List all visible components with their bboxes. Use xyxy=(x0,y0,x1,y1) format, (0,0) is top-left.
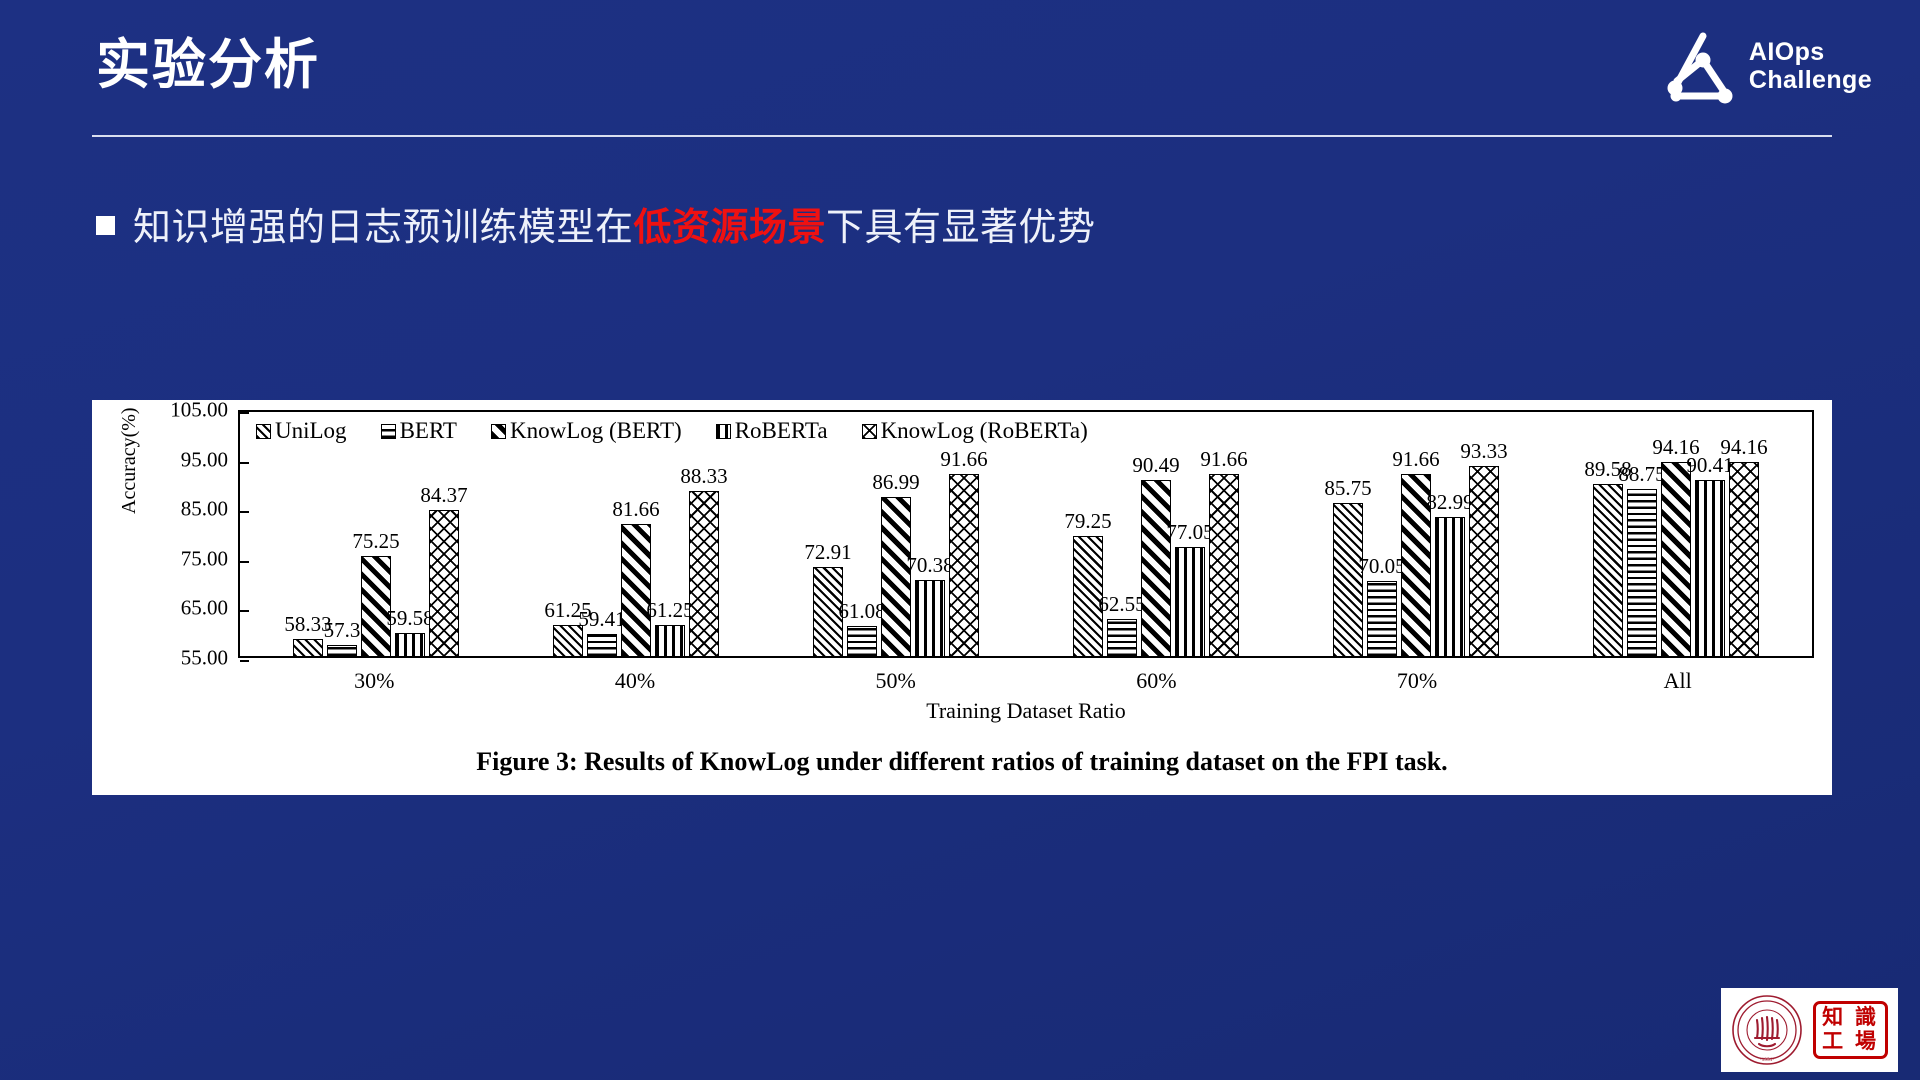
bar[interactable] xyxy=(1333,503,1363,656)
bar-value-label: 75.25 xyxy=(352,529,399,554)
bar[interactable] xyxy=(429,510,459,656)
bar-group: 79.2562.5590.4977.0591.66 xyxy=(1026,412,1286,656)
brand-line-1: AIOps xyxy=(1749,38,1872,66)
brand-wordmark: AIOps Challenge xyxy=(1749,38,1872,94)
bar[interactable] xyxy=(1627,489,1657,656)
x-axis-ticks: 30%40%50%60%70%All xyxy=(238,668,1814,694)
bar-value-label: 70.05 xyxy=(1358,554,1405,579)
legend-label: KnowLog (BERT) xyxy=(510,418,682,444)
bar-wrapper: 93.33 xyxy=(1469,412,1499,656)
x-axis-tick-label: 60% xyxy=(1026,668,1287,694)
bar-value-label: 81.66 xyxy=(612,497,659,522)
bullet-row: 知识增强的日志预训练模型在低资源场景下具有显著优势 xyxy=(96,196,1096,251)
page-title: 实验分析 xyxy=(96,36,320,95)
bar-value-label: 88.75 xyxy=(1618,462,1665,487)
bar-wrapper: 89.58 xyxy=(1593,412,1623,656)
y-axis-tick-label: 75.00 xyxy=(181,546,228,571)
bar-value-label: 77.05 xyxy=(1166,520,1213,545)
bar-wrapper: 79.25 xyxy=(1073,412,1103,656)
bar[interactable] xyxy=(949,474,979,656)
y-axis-tickmark xyxy=(240,610,249,612)
donghua-university-seal-icon: ·1951· xyxy=(1731,994,1803,1066)
legend-item[interactable]: UniLog xyxy=(256,418,347,444)
lab-logo-line-1: 知 識 xyxy=(1822,1006,1879,1030)
legend-item[interactable]: RoBERTa xyxy=(716,418,828,444)
bar-value-label: 94.16 xyxy=(1720,435,1767,460)
bar-wrapper: 88.33 xyxy=(689,412,719,656)
bar[interactable] xyxy=(1141,480,1171,656)
bar-wrapper: 91.66 xyxy=(1401,412,1431,656)
bar-value-label: 57.3 xyxy=(324,618,361,643)
x-axis-title: Training Dataset Ratio xyxy=(238,698,1814,724)
y-axis-tickmark xyxy=(240,462,249,464)
bar[interactable] xyxy=(655,625,685,656)
bar-group: 89.5888.7594.1690.4194.16 xyxy=(1546,412,1806,656)
bar[interactable] xyxy=(847,626,877,656)
bar-value-label: 91.66 xyxy=(1200,447,1247,472)
bar-value-label: 82.99 xyxy=(1426,490,1473,515)
bar-wrapper: 86.99 xyxy=(881,412,911,656)
bar-wrapper: 91.66 xyxy=(949,412,979,656)
bar-value-label: 61.08 xyxy=(838,599,885,624)
y-axis-tick-label: 65.00 xyxy=(181,596,228,621)
bar-wrapper: 85.75 xyxy=(1333,412,1363,656)
legend-label: KnowLog (RoBERTa) xyxy=(881,418,1088,444)
x-axis-tick-label: 30% xyxy=(244,668,505,694)
y-axis-tickmark xyxy=(240,660,249,662)
figure-panel: Accuracy(%) 105.0095.0085.0075.0065.0055… xyxy=(92,400,1832,795)
title-divider xyxy=(92,135,1832,137)
x-axis-tick-label: 50% xyxy=(765,668,1026,694)
bar-value-label: 79.25 xyxy=(1064,509,1111,534)
legend-label: RoBERTa xyxy=(735,418,828,444)
bar-value-label: 93.33 xyxy=(1460,439,1507,464)
bar-wrapper: 61.08 xyxy=(847,412,877,656)
bar-value-label: 91.66 xyxy=(1392,447,1439,472)
bar-value-label: 86.99 xyxy=(872,470,919,495)
bar-value-label: 72.91 xyxy=(804,540,851,565)
bar[interactable] xyxy=(1107,619,1137,656)
bar[interactable] xyxy=(1175,547,1205,656)
bar[interactable] xyxy=(293,639,323,656)
bar-wrapper: 84.37 xyxy=(429,412,459,656)
bar-wrapper: 61.25 xyxy=(655,412,685,656)
aiops-challenge-logo: AIOps Challenge xyxy=(1665,26,1872,106)
bar[interactable] xyxy=(587,634,617,656)
y-axis-tickmark xyxy=(240,511,249,513)
bar[interactable] xyxy=(395,633,425,656)
x-axis-tick-label: 70% xyxy=(1287,668,1548,694)
bar-value-label: 85.75 xyxy=(1324,476,1371,501)
bar-wrapper: 59.41 xyxy=(587,412,617,656)
network-graph-icon xyxy=(1665,26,1739,106)
bar-group: 72.9161.0886.9970.3891.66 xyxy=(766,412,1026,656)
x-axis-tick-label: 40% xyxy=(505,668,766,694)
footer-logos: ·1951· 知 識 工 場 xyxy=(1721,988,1898,1072)
bar[interactable] xyxy=(1435,517,1465,656)
svg-text:·1951·: ·1951· xyxy=(1760,1057,1775,1063)
knowledge-works-lab-logo: 知 識 工 場 xyxy=(1813,1001,1888,1059)
y-axis-tick-label: 85.00 xyxy=(181,497,228,522)
bar-value-label: 90.49 xyxy=(1132,453,1179,478)
bar-wrapper: 58.33 xyxy=(293,412,323,656)
bar-group: 58.3357.375.2559.5884.37 xyxy=(246,412,506,656)
legend-label: UniLog xyxy=(275,418,347,444)
bullet-highlight: 低资源场景 xyxy=(634,207,827,249)
bar-wrapper: 94.16 xyxy=(1661,412,1691,656)
bar-value-label: 59.41 xyxy=(578,607,625,632)
bar-chart: Accuracy(%) 105.0095.0085.0075.0065.0055… xyxy=(112,410,1814,710)
legend-item[interactable]: KnowLog (BERT) xyxy=(491,418,682,444)
legend-swatch-icon xyxy=(716,424,731,439)
legend-swatch-icon xyxy=(862,424,877,439)
y-axis-title: Accuracy(%) xyxy=(118,486,141,514)
bar[interactable] xyxy=(1209,474,1239,656)
bar[interactable] xyxy=(1593,484,1623,656)
bar[interactable] xyxy=(1367,581,1397,656)
bar[interactable] xyxy=(621,524,651,656)
bar-value-label: 70.38 xyxy=(906,553,953,578)
legend-swatch-icon xyxy=(381,424,396,439)
legend-label: BERT xyxy=(400,418,457,444)
plot-area: UniLogBERTKnowLog (BERT)RoBERTaKnowLog (… xyxy=(238,410,1814,658)
bar-wrapper: 62.55 xyxy=(1107,412,1137,656)
bar[interactable] xyxy=(1469,466,1499,656)
bar-wrapper: 91.66 xyxy=(1209,412,1239,656)
x-axis-tick-label: All xyxy=(1547,668,1808,694)
bar-wrapper: 94.16 xyxy=(1729,412,1759,656)
bullet-prefix: 知识增强的日志预训练模型在 xyxy=(133,207,634,249)
bar[interactable] xyxy=(327,645,357,656)
y-axis-tick-label: 55.00 xyxy=(181,646,228,671)
bar-value-label: 91.66 xyxy=(940,447,987,472)
brand-line-2: Challenge xyxy=(1749,66,1872,94)
bar-value-label: 62.55 xyxy=(1098,592,1145,617)
y-axis-tick-label: 105.00 xyxy=(170,398,228,423)
bar[interactable] xyxy=(1729,462,1759,656)
y-axis-tick-label: 95.00 xyxy=(181,447,228,472)
bar-value-label: 61.25 xyxy=(646,598,693,623)
bar[interactable] xyxy=(1661,462,1691,656)
legend-item[interactable]: BERT xyxy=(381,418,457,444)
bar-series-container: 58.3357.375.2559.5884.3761.2559.4181.666… xyxy=(240,412,1812,656)
legend-item[interactable]: KnowLog (RoBERTa) xyxy=(862,418,1088,444)
bar[interactable] xyxy=(1695,480,1725,656)
bar-value-label: 59.58 xyxy=(386,606,433,631)
bar-group: 61.2559.4181.6661.2588.33 xyxy=(506,412,766,656)
bar-wrapper: 59.58 xyxy=(395,412,425,656)
y-axis-tickmark xyxy=(240,561,249,563)
legend-swatch-icon xyxy=(491,424,506,439)
figure-caption: Figure 3: Results of KnowLog under diffe… xyxy=(92,747,1832,777)
bar-group: 85.7570.0591.6682.9993.33 xyxy=(1286,412,1546,656)
bar[interactable] xyxy=(915,580,945,656)
bullet-text: 知识增强的日志预训练模型在低资源场景下具有显著优势 xyxy=(133,196,1096,251)
y-axis-ticks: 105.0095.0085.0075.0065.0055.00 xyxy=(148,410,234,658)
y-axis-tickmark xyxy=(240,412,249,414)
bar-value-label: 84.37 xyxy=(420,483,467,508)
bullet-suffix: 下具有显著优势 xyxy=(826,207,1096,249)
bar[interactable] xyxy=(689,491,719,656)
legend-swatch-icon xyxy=(256,424,271,439)
square-bullet-icon xyxy=(96,216,115,235)
bar-value-label: 88.33 xyxy=(680,464,727,489)
lab-logo-line-2: 工 場 xyxy=(1822,1030,1879,1054)
chart-legend: UniLogBERTKnowLog (BERT)RoBERTaKnowLog (… xyxy=(256,418,1088,444)
